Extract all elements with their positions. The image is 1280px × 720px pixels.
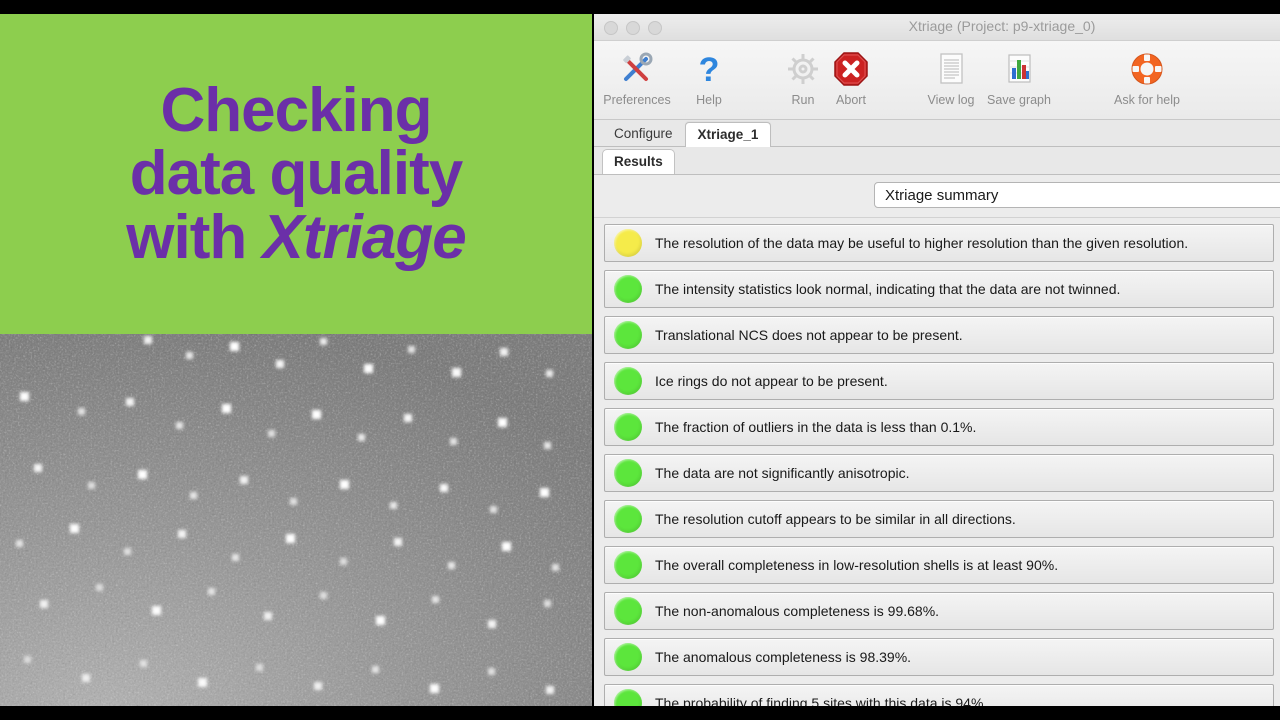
result-row[interactable]: The anomalous completeness is 98.39%. xyxy=(604,638,1274,676)
stop-x-icon xyxy=(812,47,890,91)
window-titlebar: Xtriage (Project: p9-xtriage_0) xyxy=(594,14,1280,41)
toolbar-label-save-graph: Save graph xyxy=(980,93,1058,107)
result-row[interactable]: The probability of finding 5 sites with … xyxy=(604,684,1274,706)
title-line-3-prefix: with xyxy=(126,203,262,272)
window-title: Xtriage (Project: p9-xtriage_0) xyxy=(594,18,1280,34)
result-row-text: The non-anomalous completeness is 99.68%… xyxy=(655,603,939,619)
toolbar-label-abort: Abort xyxy=(812,93,890,107)
result-row-text: The probability of finding 5 sites with … xyxy=(655,695,987,706)
summary-dropdown[interactable]: Xtriage summary xyxy=(874,182,1280,208)
results-list[interactable]: The resolution of the data may be useful… xyxy=(594,218,1280,706)
result-row[interactable]: The non-anomalous completeness is 99.68%… xyxy=(604,592,1274,630)
status-dot-ok-icon xyxy=(614,413,642,441)
tools-icon xyxy=(598,47,676,91)
result-row-text: The overall completeness in low-resoluti… xyxy=(655,557,1058,573)
title-line-3-italic: Xtriage xyxy=(263,203,466,272)
presentation-slide: Checking data quality with Xtriage xyxy=(0,14,592,706)
result-row-text: The fraction of outliers in the data is … xyxy=(655,419,976,435)
tabbar-inner: Results xyxy=(594,147,1280,175)
diffraction-image xyxy=(0,334,592,706)
status-dot-ok-icon xyxy=(614,643,642,671)
bar-chart-icon xyxy=(980,47,1058,91)
document-icon xyxy=(912,47,990,91)
result-row[interactable]: Translational NCS does not appear to be … xyxy=(604,316,1274,354)
toolbar-label-preferences: Preferences xyxy=(598,93,676,107)
status-dot-ok-icon xyxy=(614,275,642,303)
status-dot-ok-icon xyxy=(614,597,642,625)
result-row-text: The intensity statistics look normal, in… xyxy=(655,281,1120,297)
status-dot-warning-icon xyxy=(614,229,642,257)
title-line-1: Checking xyxy=(160,79,431,142)
title-line-3: with Xtriage xyxy=(126,206,465,269)
svg-text:?: ? xyxy=(699,51,720,87)
result-row-text: The data are not significantly anisotrop… xyxy=(655,465,909,481)
result-row[interactable]: The resolution cutoff appears to be simi… xyxy=(604,500,1274,538)
title-card: Checking data quality with Xtriage xyxy=(0,14,592,334)
toolbar-button-abort[interactable]: Abort xyxy=(812,47,890,107)
status-dot-ok-icon xyxy=(614,459,642,487)
tab-xtriage-1[interactable]: Xtriage_1 xyxy=(685,122,772,147)
status-dot-ok-icon xyxy=(614,505,642,533)
summary-selector-row: Xtriage summary xyxy=(594,175,1280,218)
question-mark-icon: ? xyxy=(670,47,748,91)
result-row-text: The resolution of the data may be useful… xyxy=(655,235,1188,251)
life-preserver-icon xyxy=(1108,47,1186,91)
tabbar-outer: ConfigureXtriage_1 xyxy=(594,120,1280,147)
toolbar-button-preferences[interactable]: Preferences xyxy=(598,47,676,107)
result-row[interactable]: The fraction of outliers in the data is … xyxy=(604,408,1274,446)
result-row[interactable]: The intensity statistics look normal, in… xyxy=(604,270,1274,308)
result-row[interactable]: The resolution of the data may be useful… xyxy=(604,224,1274,262)
title-line-2: data quality xyxy=(130,142,463,205)
screen: Checking data quality with Xtriage xyxy=(0,0,1280,720)
result-row-text: The anomalous completeness is 98.39%. xyxy=(655,649,911,665)
toolbar: Preferences ? Help xyxy=(594,41,1280,120)
toolbar-button-save-graph[interactable]: Save graph xyxy=(980,47,1058,107)
toolbar-button-ask-for-help[interactable]: Ask for help xyxy=(1108,47,1186,107)
xtriage-app-window: Xtriage (Project: p9-xtriage_0) Preferen… xyxy=(594,14,1280,706)
status-dot-ok-icon xyxy=(614,321,642,349)
result-row-text: Translational NCS does not appear to be … xyxy=(655,327,963,343)
result-row[interactable]: The overall completeness in low-resoluti… xyxy=(604,546,1274,584)
toolbar-label-view-log: View log xyxy=(912,93,990,107)
status-dot-ok-icon xyxy=(614,551,642,579)
toolbar-button-help[interactable]: ? Help xyxy=(670,47,748,107)
toolbar-button-view-log[interactable]: View log xyxy=(912,47,990,107)
result-row[interactable]: The data are not significantly anisotrop… xyxy=(604,454,1274,492)
result-row[interactable]: Ice rings do not appear to be present. xyxy=(604,362,1274,400)
toolbar-label-ask-for-help: Ask for help xyxy=(1108,93,1186,107)
status-dot-ok-icon xyxy=(614,689,642,706)
toolbar-label-help: Help xyxy=(670,93,748,107)
tab-configure[interactable]: Configure xyxy=(602,122,685,146)
result-row-text: The resolution cutoff appears to be simi… xyxy=(655,511,1016,527)
status-dot-ok-icon xyxy=(614,367,642,395)
tab-results[interactable]: Results xyxy=(602,149,675,174)
result-row-text: Ice rings do not appear to be present. xyxy=(655,373,888,389)
diffraction-pattern-svg xyxy=(0,334,592,706)
